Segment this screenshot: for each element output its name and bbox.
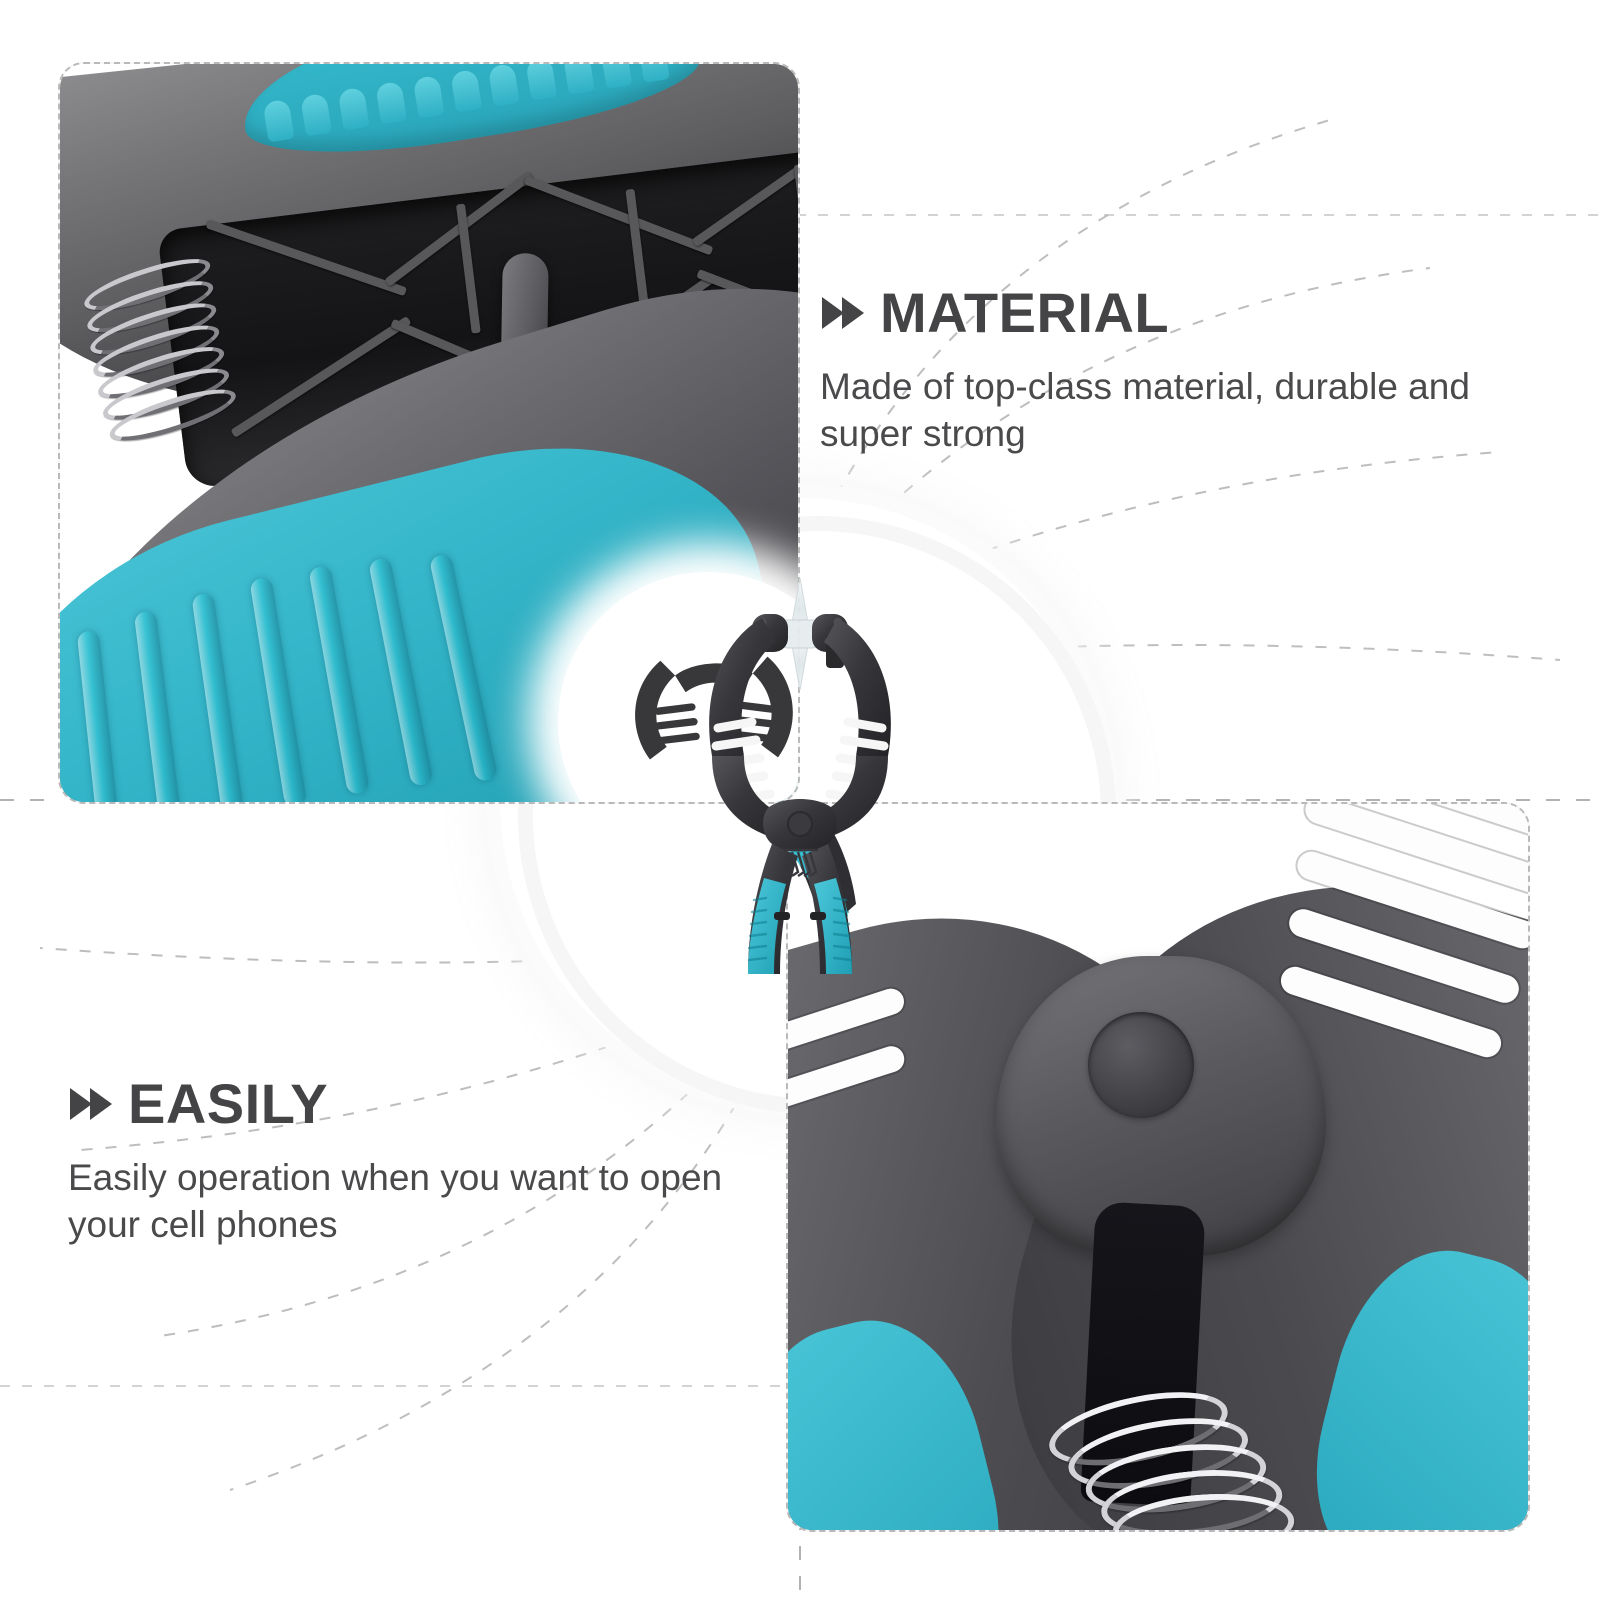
pivot-hinge (763, 799, 837, 852)
easily-description: Easily operation when you want to open y… (68, 1154, 768, 1249)
easily-heading: EASILY (68, 1076, 768, 1132)
handle-stops (774, 912, 826, 920)
material-description: Made of top-class material, durable and … (820, 363, 1520, 458)
infographic-canvas: MATERIAL Made of top-class material, dur… (0, 0, 1600, 1600)
feature-block-material: MATERIAL Made of top-class material, dur… (820, 285, 1520, 458)
fast-forward-icon (820, 293, 868, 333)
hinge-pivot-cap (1088, 1012, 1194, 1118)
material-heading-label: MATERIAL (880, 285, 1169, 341)
easily-heading-label: EASILY (128, 1076, 328, 1132)
feature-block-easily: EASILY Easily operation when you want to… (68, 1076, 768, 1249)
product-hero-photo (640, 560, 960, 1000)
material-heading: MATERIAL (820, 285, 1520, 341)
handles (748, 844, 852, 974)
fast-forward-icon (68, 1084, 116, 1124)
hinge-spring (1043, 1355, 1316, 1530)
